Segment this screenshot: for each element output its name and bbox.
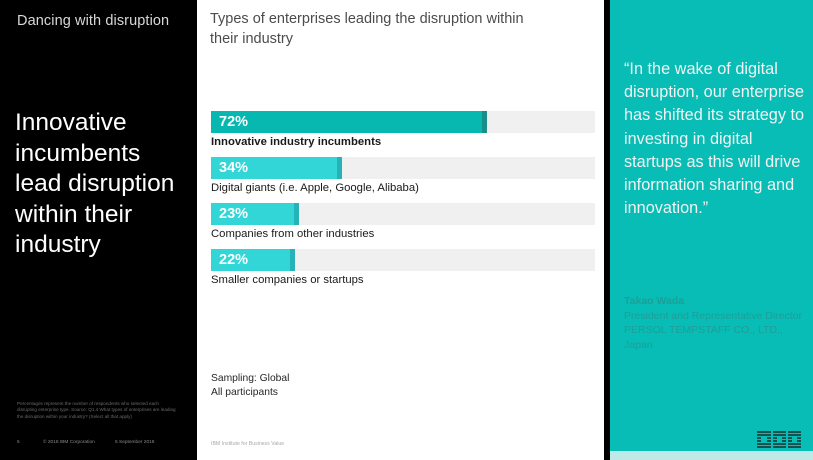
deck-eyebrow-label: Dancing with disruption — [17, 13, 169, 29]
sampling-participants: All participants — [211, 386, 289, 400]
quote-panel: “In the wake of digital disruption, our … — [610, 0, 813, 451]
bar-track: 23% — [211, 203, 595, 225]
bar-chart: 72% Innovative industry incumbents 34% D… — [211, 111, 595, 295]
bar-group: 72% Innovative industry incumbents — [211, 111, 595, 152]
bar-fill — [211, 111, 487, 133]
sampling-note: Sampling: Global All participants — [211, 372, 289, 399]
bar-category-label: Smaller companies or startups — [211, 271, 595, 290]
copyright-label: © 2018 IBM Corporation — [43, 440, 115, 445]
attribution-company: PERSOL TEMPSTAFF CO., LTD., Japan — [624, 323, 810, 352]
bar-track: 22% — [211, 249, 595, 271]
attribution-name: Takao Wada — [624, 294, 810, 309]
bar-value-label: 34% — [219, 157, 248, 179]
bar-group: 23% Companies from other industries — [211, 203, 595, 244]
ibm-logo-icon — [757, 431, 801, 448]
slide-headline: Innovative incumbents lead disruption wi… — [15, 108, 191, 261]
bar-value-label: 22% — [219, 249, 248, 271]
bar-end-cap — [294, 203, 299, 225]
source-footnote: Percentages represent the number of resp… — [17, 401, 177, 420]
bar-track: 34% — [211, 157, 595, 179]
bar-category-label: Digital giants (i.e. Apple, Google, Alib… — [211, 179, 595, 198]
bar-value-label: 72% — [219, 111, 248, 133]
bar-end-cap — [482, 111, 487, 133]
bar-category-label: Companies from other industries — [211, 225, 595, 244]
attribution-title: President and Representative Director — [624, 309, 810, 324]
sampling-scope: Sampling: Global — [211, 372, 289, 386]
slide: Dancing with disruption Innovative incum… — [0, 0, 813, 460]
page-number: 5 — [17, 440, 43, 445]
slide-footer-bar: 5 © 2018 IBM Corporation 5 September 201… — [17, 440, 192, 445]
quote-attribution: Takao Wada President and Representative … — [624, 294, 810, 352]
date-label: 5 September 2018 — [115, 440, 154, 445]
bottom-accent-strip — [610, 451, 813, 460]
pull-quote: “In the wake of digital disruption, our … — [624, 58, 810, 220]
bar-group: 22% Smaller companies or startups — [211, 249, 595, 290]
bar-category-label: Innovative industry incumbents — [211, 133, 595, 152]
institute-footer-label: IBM Institute for Business Value — [211, 441, 284, 447]
chart-title: Types of enterprises leading the disrupt… — [210, 9, 540, 49]
bar-track: 72% — [211, 111, 595, 133]
bar-end-cap — [290, 249, 295, 271]
bar-group: 34% Digital giants (i.e. Apple, Google, … — [211, 157, 595, 198]
bar-end-cap — [337, 157, 342, 179]
bar-value-label: 23% — [219, 203, 248, 225]
left-title-panel: Dancing with disruption Innovative incum… — [0, 0, 197, 460]
chart-panel: Types of enterprises leading the disrupt… — [197, 0, 604, 460]
